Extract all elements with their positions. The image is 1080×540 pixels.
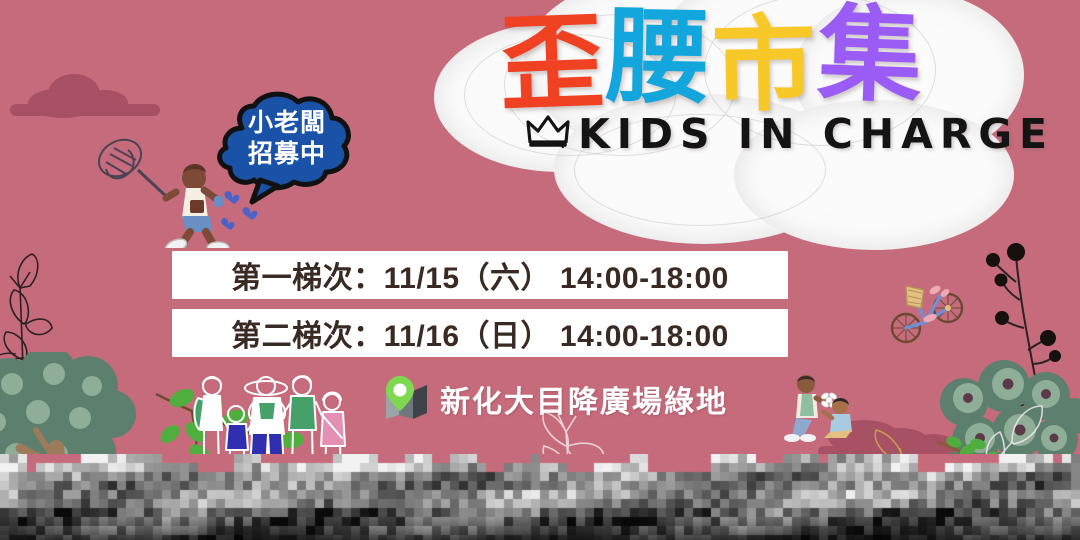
logo-char-4: 集	[816, 6, 925, 107]
map-pin-icon	[382, 375, 430, 424]
logo-char-3: 市	[711, 17, 819, 117]
logo-char-2: 腰	[605, 9, 713, 109]
recruit-badge[interactable]: 小老闆 招募中	[212, 88, 362, 206]
location-name: 新化大目降廣場綠地	[440, 377, 728, 421]
session-2-text: 第二梯次：11/16（日） 14:00-18:00	[231, 311, 729, 355]
logo-char-1: 歪	[498, 14, 607, 115]
session-1-text: 第一梯次：11/15（六） 14:00-18:00	[231, 253, 729, 297]
ground-shadow-right	[818, 412, 968, 454]
pixel-city-canvas	[0, 454, 1080, 540]
location-row: 新化大目降廣場綠地	[382, 375, 728, 423]
logo-chinese-title: 歪 腰 市 集	[500, 10, 980, 108]
event-logo: 歪 腰 市 集 KIDS IN CHARGE	[500, 10, 980, 180]
pixelated-cityscape-strip	[0, 454, 1080, 540]
session-bar-2: 第二梯次：11/16（日） 14:00-18:00	[172, 309, 788, 357]
session-bar-1: 第一梯次：11/15（六） 14:00-18:00	[172, 251, 788, 299]
event-banner: 歪 腰 市 集 KIDS IN CHARGE 小老闆	[0, 0, 1080, 540]
speech-bubble-shape	[212, 88, 362, 206]
cloud-silhouette-left	[10, 74, 160, 118]
